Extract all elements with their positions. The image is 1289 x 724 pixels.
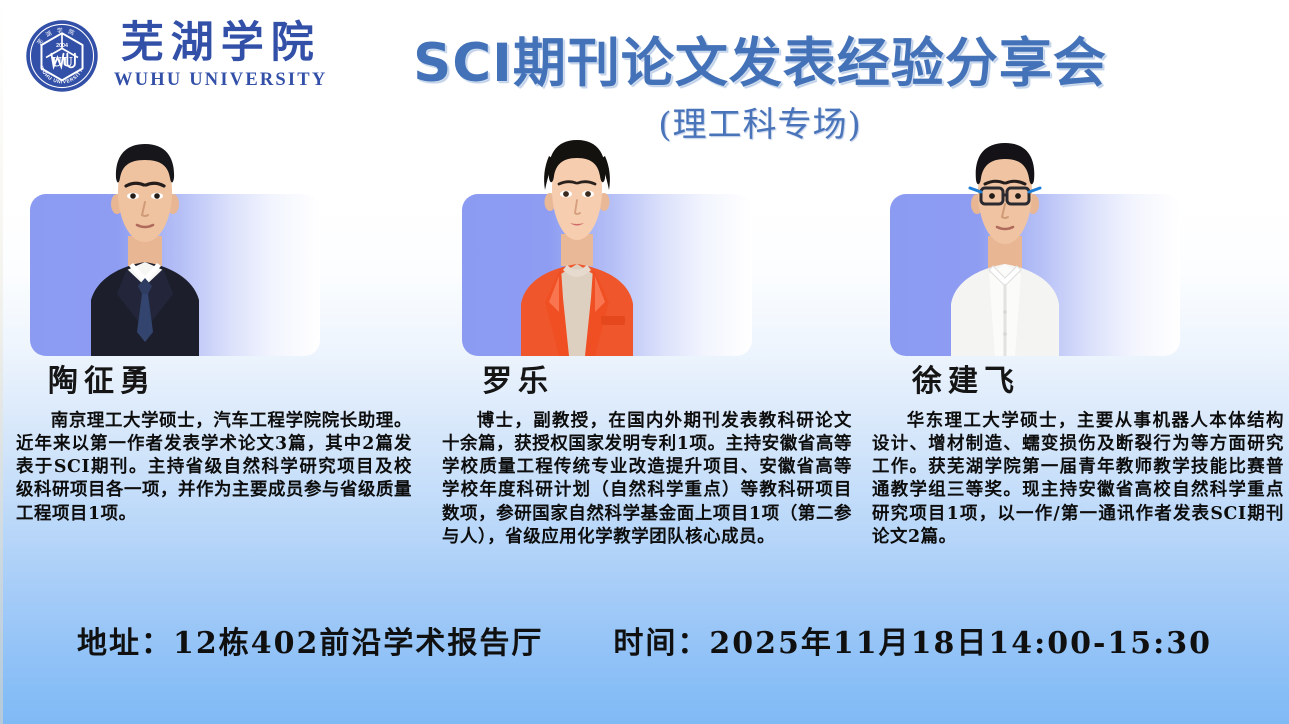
speaker-name: 徐建飞 [912, 364, 1288, 400]
brand-text: 芜湖学院 WUHU UNIVERSITY [114, 22, 327, 90]
speaker-photo [462, 160, 752, 356]
portrait-luo-le [497, 126, 657, 356]
portrait-xu-jianfei [925, 126, 1085, 356]
university-brand: 2004 UU 芜 湖 学 院 WUHU UNIVERSITY [24, 18, 327, 94]
speaker-bio: 博士，副教授，在国内外期刊发表教科研论文十余篇，获授权国家发明专利1项。主持安徽… [442, 410, 852, 549]
speaker-bio: 华东理工大学硕士，主要从事机器人本体结构设计、增材制造、蠕变损伤及断裂行为等方面… [872, 410, 1284, 549]
speaker-photo [890, 160, 1180, 356]
speaker-bio: 南京理工大学硕士，汽车工程学院院长助理。近年来以第一作者发表学术论文3篇，其中2… [16, 410, 412, 526]
event-location: 地址：12栋402前沿学术报告厅 [77, 618, 543, 662]
svg-text:2004: 2004 [56, 43, 68, 49]
speaker-card: 陶征勇 南京理工大学硕士，汽车工程学院院长助理。近年来以第一作者发表学术论文3篇… [8, 160, 428, 526]
speaker-card: 罗乐 博士，副教授，在国内外期刊发表教科研论文十余篇，获授权国家发明专利1项。主… [440, 160, 860, 549]
speakers-row: 陶征勇 南京理工大学硕士，汽车工程学院院长助理。近年来以第一作者发表学术论文3篇… [0, 160, 1289, 580]
event-datetime: 时间：2025年11月18日14:00-15:30 [613, 618, 1212, 662]
poster-title: SCI期刊论文发表经验分享会 [310, 34, 1210, 93]
brand-name-en: WUHU UNIVERSITY [114, 71, 327, 90]
brand-name-cn: 芜湖学院 [121, 22, 321, 65]
speaker-card: 徐建飞 华东理工大学硕士，主要从事机器人本体结构设计、增材制造、蠕变损伤及断裂行… [868, 160, 1288, 549]
event-poster: 2004 UU 芜 湖 学 院 WUHU UNIVERSITY [0, 0, 1289, 724]
speaker-photo [30, 160, 320, 356]
poster-footer: 地址：12栋402前沿学术报告厅 时间：2025年11月18日14:00-15:… [0, 618, 1289, 662]
wuhu-university-seal-icon: 2004 UU 芜 湖 学 院 WUHU UNIVERSITY [24, 18, 100, 94]
portrait-tao-zhengyong [65, 126, 225, 356]
speaker-name: 陶征勇 [48, 364, 428, 400]
speaker-name: 罗乐 [482, 364, 860, 400]
